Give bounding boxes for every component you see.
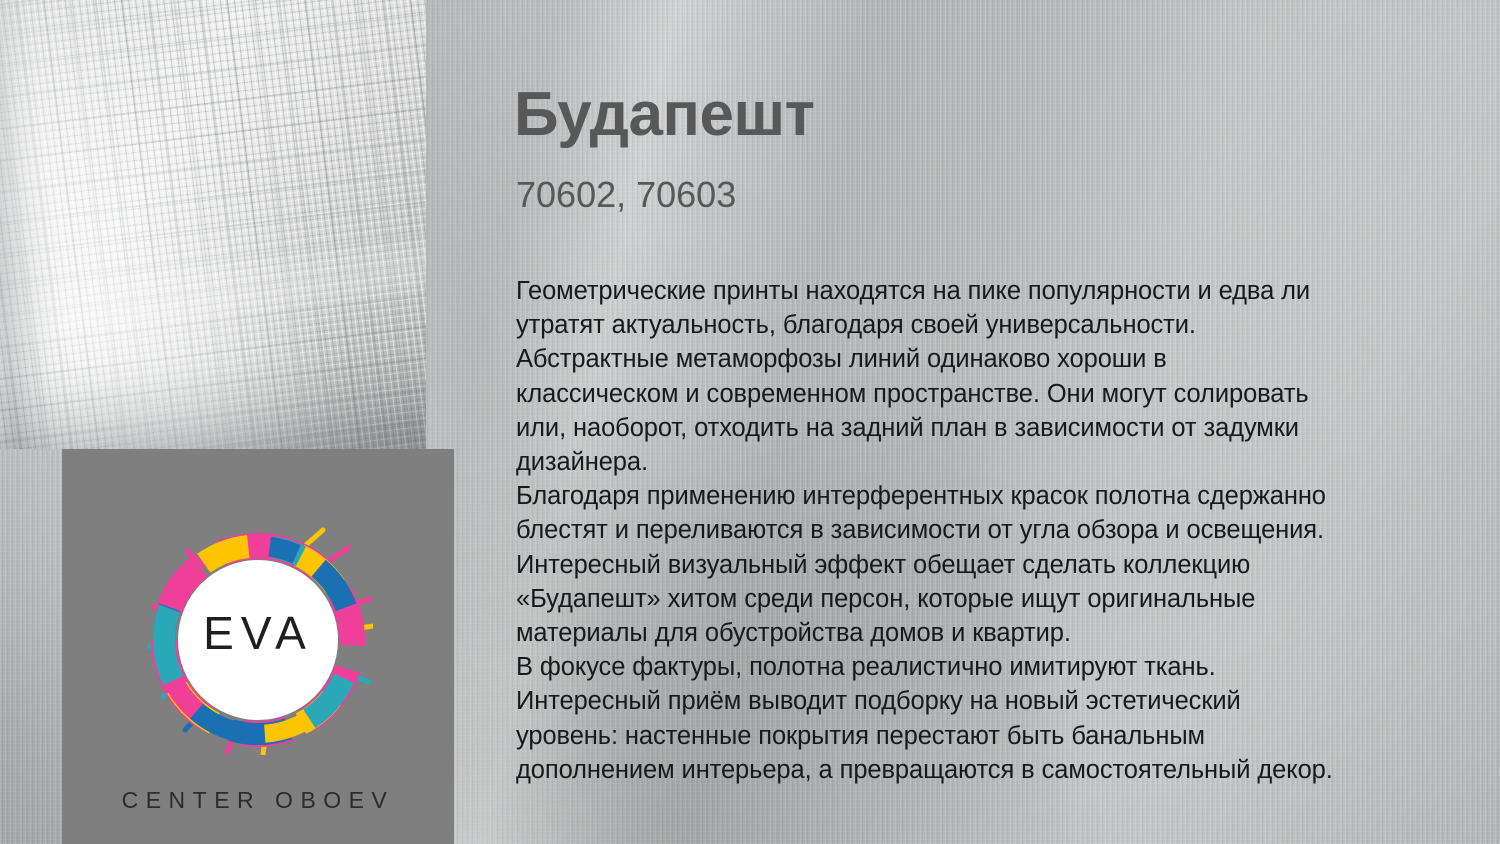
- eva-logo-mark: EVA: [143, 525, 373, 755]
- product-photo: [0, 0, 426, 449]
- description-line: уровень: настенные покрытия перестают бы…: [516, 719, 1448, 753]
- page-title: Будапешт: [514, 84, 815, 146]
- description-line: утратят актуальность, благодаря своей ун…: [516, 308, 1448, 342]
- description-line: Благодаря применению интерферентных крас…: [516, 479, 1448, 513]
- description-line: Геометрические принты находятся на пике …: [516, 274, 1448, 308]
- brand-name-text: CENTER OBOEV: [122, 787, 395, 814]
- article-numbers: 70602, 70603: [516, 177, 736, 213]
- description-line: Интересный визуальный эффект обещает сде…: [516, 548, 1448, 582]
- eva-logo-svg: EVA: [143, 525, 373, 755]
- description-line: материалы для обустройства домов и кварт…: [516, 616, 1448, 650]
- description-line: Абстрактные метаморфозы линий одинаково …: [516, 342, 1448, 376]
- description-line: В фокусе фактуры, полотна реалистично им…: [516, 650, 1448, 684]
- product-description: Геометрические принты находятся на пике …: [516, 274, 1448, 787]
- description-line: «Будапешт» хитом среди персон, которые и…: [516, 582, 1448, 616]
- description-line: дополнением интерьера, а превращаются в …: [516, 753, 1448, 787]
- slide-canvas: EVA CENTER OBOEV Будапешт 70602, 70603 Г…: [0, 0, 1500, 844]
- description-line: Интересный приём выводит подборку на нов…: [516, 684, 1448, 718]
- description-line: или, наоборот, отходить на задний план в…: [516, 411, 1448, 445]
- description-line: классическом и современном пространстве.…: [516, 377, 1448, 411]
- description-line: дизайнера.: [516, 445, 1448, 479]
- brand-logo-panel: EVA CENTER OBOEV: [62, 449, 454, 844]
- eva-monogram-text: EVA: [203, 607, 313, 659]
- product-info: Будапешт 70602, 70603 Геометрические при…: [514, 0, 1454, 844]
- description-line: блестят и переливаются в зависимости от …: [516, 513, 1448, 547]
